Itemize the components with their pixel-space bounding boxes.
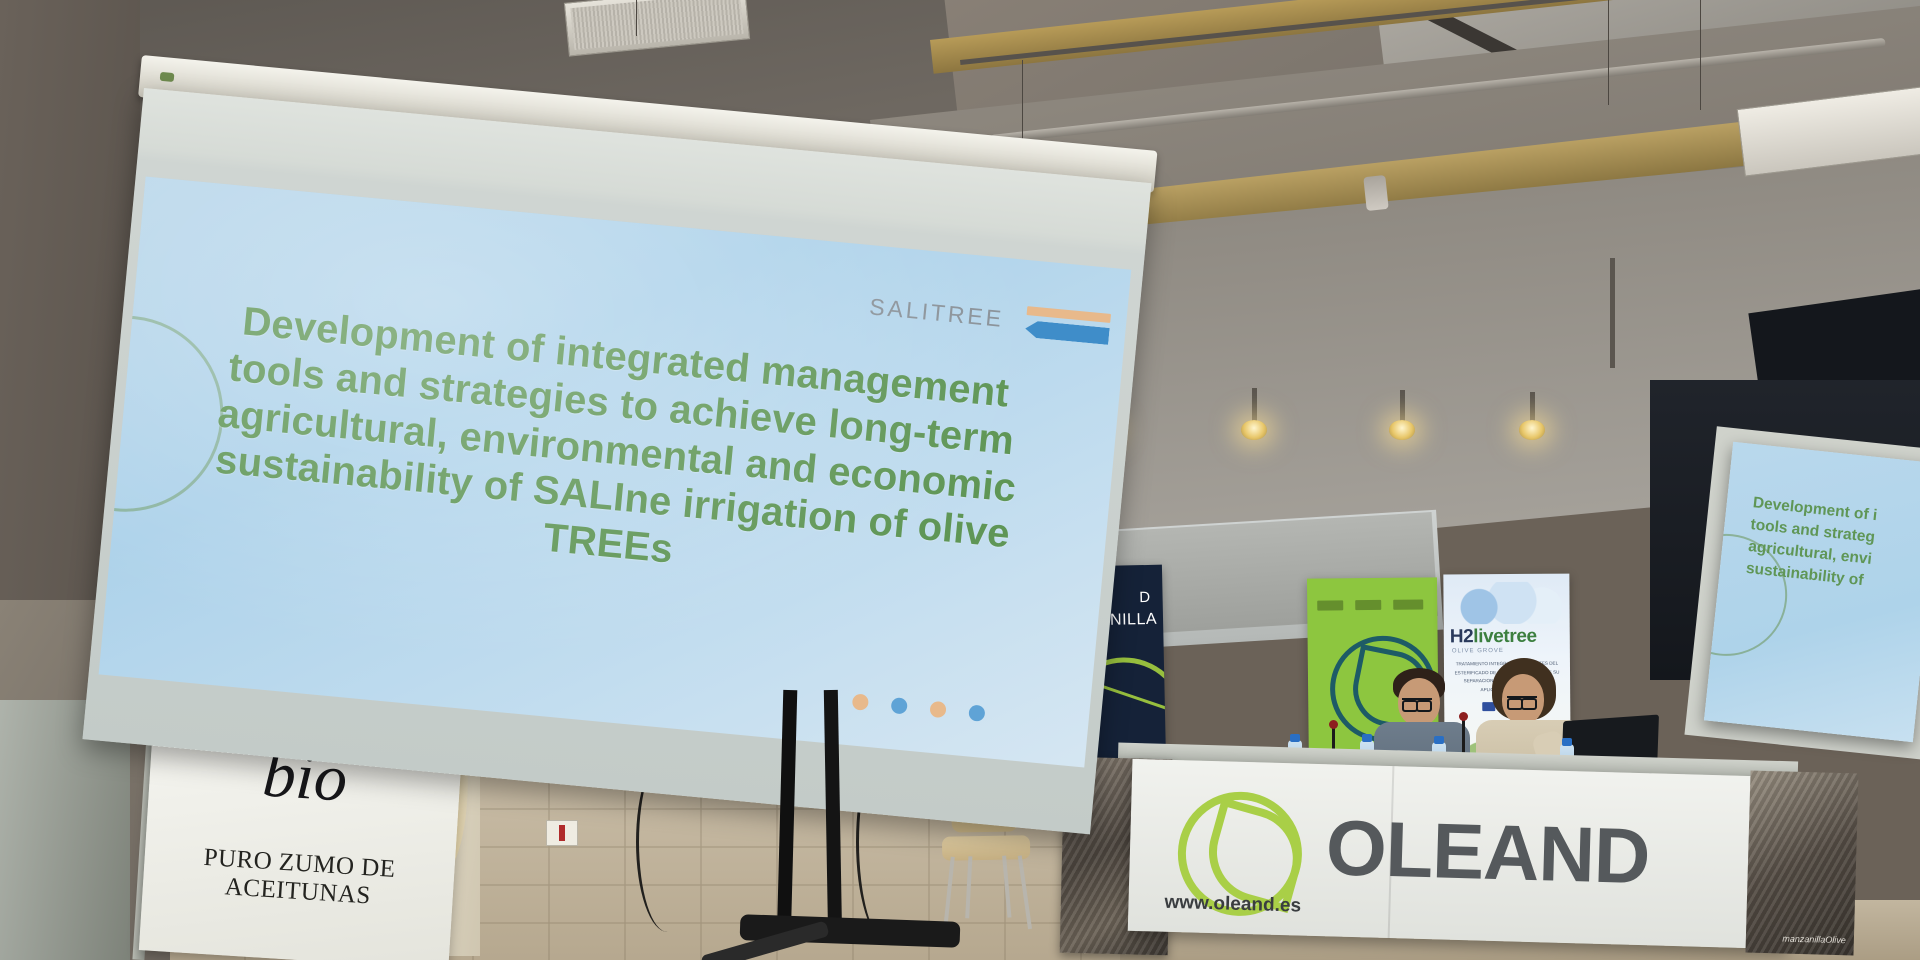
- banner-green-partner-1: [1317, 600, 1343, 610]
- ceiling-bulb-4: [1519, 420, 1545, 440]
- banner-green-partner-3: [1393, 599, 1423, 609]
- slide-dot-1: [852, 693, 869, 710]
- projection-screen-surface: SALITREE Development of integrated manag…: [82, 88, 1151, 834]
- slide-title-line-4: sustainability of SALIne irrigation of o…: [165, 432, 1059, 563]
- salitree-logo-text: SALITREE: [868, 293, 1005, 333]
- slide-title-line-2: tools and strategies to achieve long-ter…: [174, 339, 1068, 470]
- manzanilla-caption: manzanillaOlive: [1782, 933, 1846, 945]
- oleand-website-url: www.oleand.es: [1164, 892, 1301, 918]
- table-photo-panel-right: manzanillaOlive: [1745, 771, 1858, 956]
- slide-dot-2: [890, 697, 907, 714]
- track-light-stem-2: [1252, 388, 1257, 424]
- banner-h2o-subtitle: OLIVE GROVE: [1452, 648, 1504, 654]
- sprinkler-head: [1363, 175, 1388, 211]
- banner-h2o-title-h2: H2: [1450, 626, 1474, 647]
- banner-navy-line1: D: [1139, 589, 1151, 606]
- pendant-cable: [1610, 258, 1615, 368]
- oleand-wordmark: OLEAND: [1325, 808, 1650, 895]
- ceiling-bulb-2: [1241, 420, 1267, 440]
- slide-decorative-ring-icon: [99, 307, 232, 521]
- person-right-glasses-icon: [1507, 696, 1537, 706]
- banner-h2o-clouds-icon: [1451, 582, 1561, 625]
- secondary-projection-screen: Development of i tools and strateg agric…: [1704, 442, 1920, 742]
- banner-h2o-title: H2livetree: [1450, 626, 1566, 649]
- banner-green-partner-2: [1355, 600, 1381, 610]
- hanging-wire-b: [1608, 0, 1609, 105]
- person-left-glasses-icon: [1402, 698, 1432, 708]
- salitree-logo-bar-icon: [1027, 306, 1111, 323]
- slide-dot-3: [929, 701, 946, 718]
- slide-title: Development of integrated management too…: [161, 293, 1073, 610]
- screenshot-root: ser bio PURO ZUMO DE ACEITUNAS D ANILLA …: [0, 0, 1920, 960]
- salitree-logo-arrow-icon: [1024, 320, 1109, 345]
- projection-screen-assembly: SALITREE Development of integrated manag…: [60, 30, 1100, 730]
- ceiling-bulb-3: [1389, 420, 1415, 440]
- banner-h2o-title-rest: livetree: [1473, 626, 1537, 647]
- slide-dot-indicators: [852, 693, 986, 721]
- salitree-logo: SALITREE: [868, 289, 1111, 346]
- slide-title-line-5: TREEs: [161, 479, 1055, 610]
- wall-socket[interactable]: [546, 820, 578, 846]
- track-light-stem-3: [1400, 390, 1405, 424]
- slide-title-line-3: agricultural, environmental and economic: [170, 386, 1064, 517]
- slide-title-line-1: Development of integrated management: [179, 293, 1073, 424]
- slide-canvas: SALITREE Development of integrated manag…: [99, 177, 1132, 768]
- hanging-wire-c: [1700, 0, 1701, 110]
- salitree-logo-marks-icon: [1012, 303, 1111, 346]
- slide-dot-4: [968, 704, 985, 721]
- screen-case-label-icon: [160, 72, 175, 82]
- table-front-panel: OLEAND www.oleand.es: [1128, 759, 1793, 949]
- side-sign-subtitle: PURO ZUMO DE ACEITUNAS: [142, 840, 455, 915]
